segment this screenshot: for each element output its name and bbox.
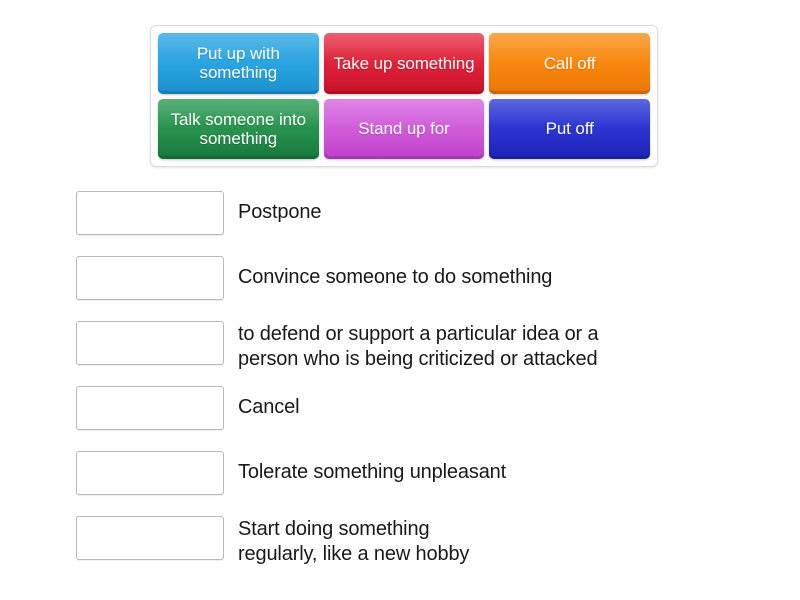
definition-text: Start doing something regularly, like a … [238, 516, 469, 566]
tile-label: Put off [546, 119, 594, 138]
drop-zone[interactable] [76, 516, 224, 560]
tile-label: Stand up for [358, 119, 449, 138]
definition-text: Convince someone to do something [238, 256, 552, 290]
tile-label: Talk someone into something [162, 110, 315, 148]
answer-row: Tolerate something unpleasant [76, 451, 776, 495]
definition-text: to defend or support a particular idea o… [238, 321, 598, 371]
answer-row: Start doing something regularly, like a … [76, 516, 776, 560]
definition-text: Postpone [238, 191, 321, 225]
drop-zone[interactable] [76, 386, 224, 430]
drop-zone[interactable] [76, 256, 224, 300]
answer-row: to defend or support a particular idea o… [76, 321, 776, 365]
answer-tile-grid: Put up with something Take up something … [158, 33, 650, 159]
drop-zone[interactable] [76, 191, 224, 235]
answer-row: Postpone [76, 191, 776, 235]
answer-row-list: Postpone Convince someone to do somethin… [76, 191, 776, 581]
draggable-tile-call-off[interactable]: Call off [489, 33, 650, 94]
answer-row: Cancel [76, 386, 776, 430]
draggable-tile-stand-up-for[interactable]: Stand up for [324, 99, 485, 160]
tile-label: Put up with something [162, 44, 315, 82]
definition-text: Cancel [238, 386, 299, 420]
answer-tile-tray: Put up with something Take up something … [150, 25, 658, 167]
draggable-tile-put-off[interactable]: Put off [489, 99, 650, 160]
drop-zone[interactable] [76, 321, 224, 365]
draggable-tile-take-up-something[interactable]: Take up something [324, 33, 485, 94]
definition-text: Tolerate something unpleasant [238, 451, 506, 485]
answer-row: Convince someone to do something [76, 256, 776, 300]
draggable-tile-talk-someone-into-something[interactable]: Talk someone into something [158, 99, 319, 160]
draggable-tile-put-up-with-something[interactable]: Put up with something [158, 33, 319, 94]
tile-label: Take up something [333, 54, 474, 73]
tile-label: Call off [544, 54, 596, 73]
drop-zone[interactable] [76, 451, 224, 495]
